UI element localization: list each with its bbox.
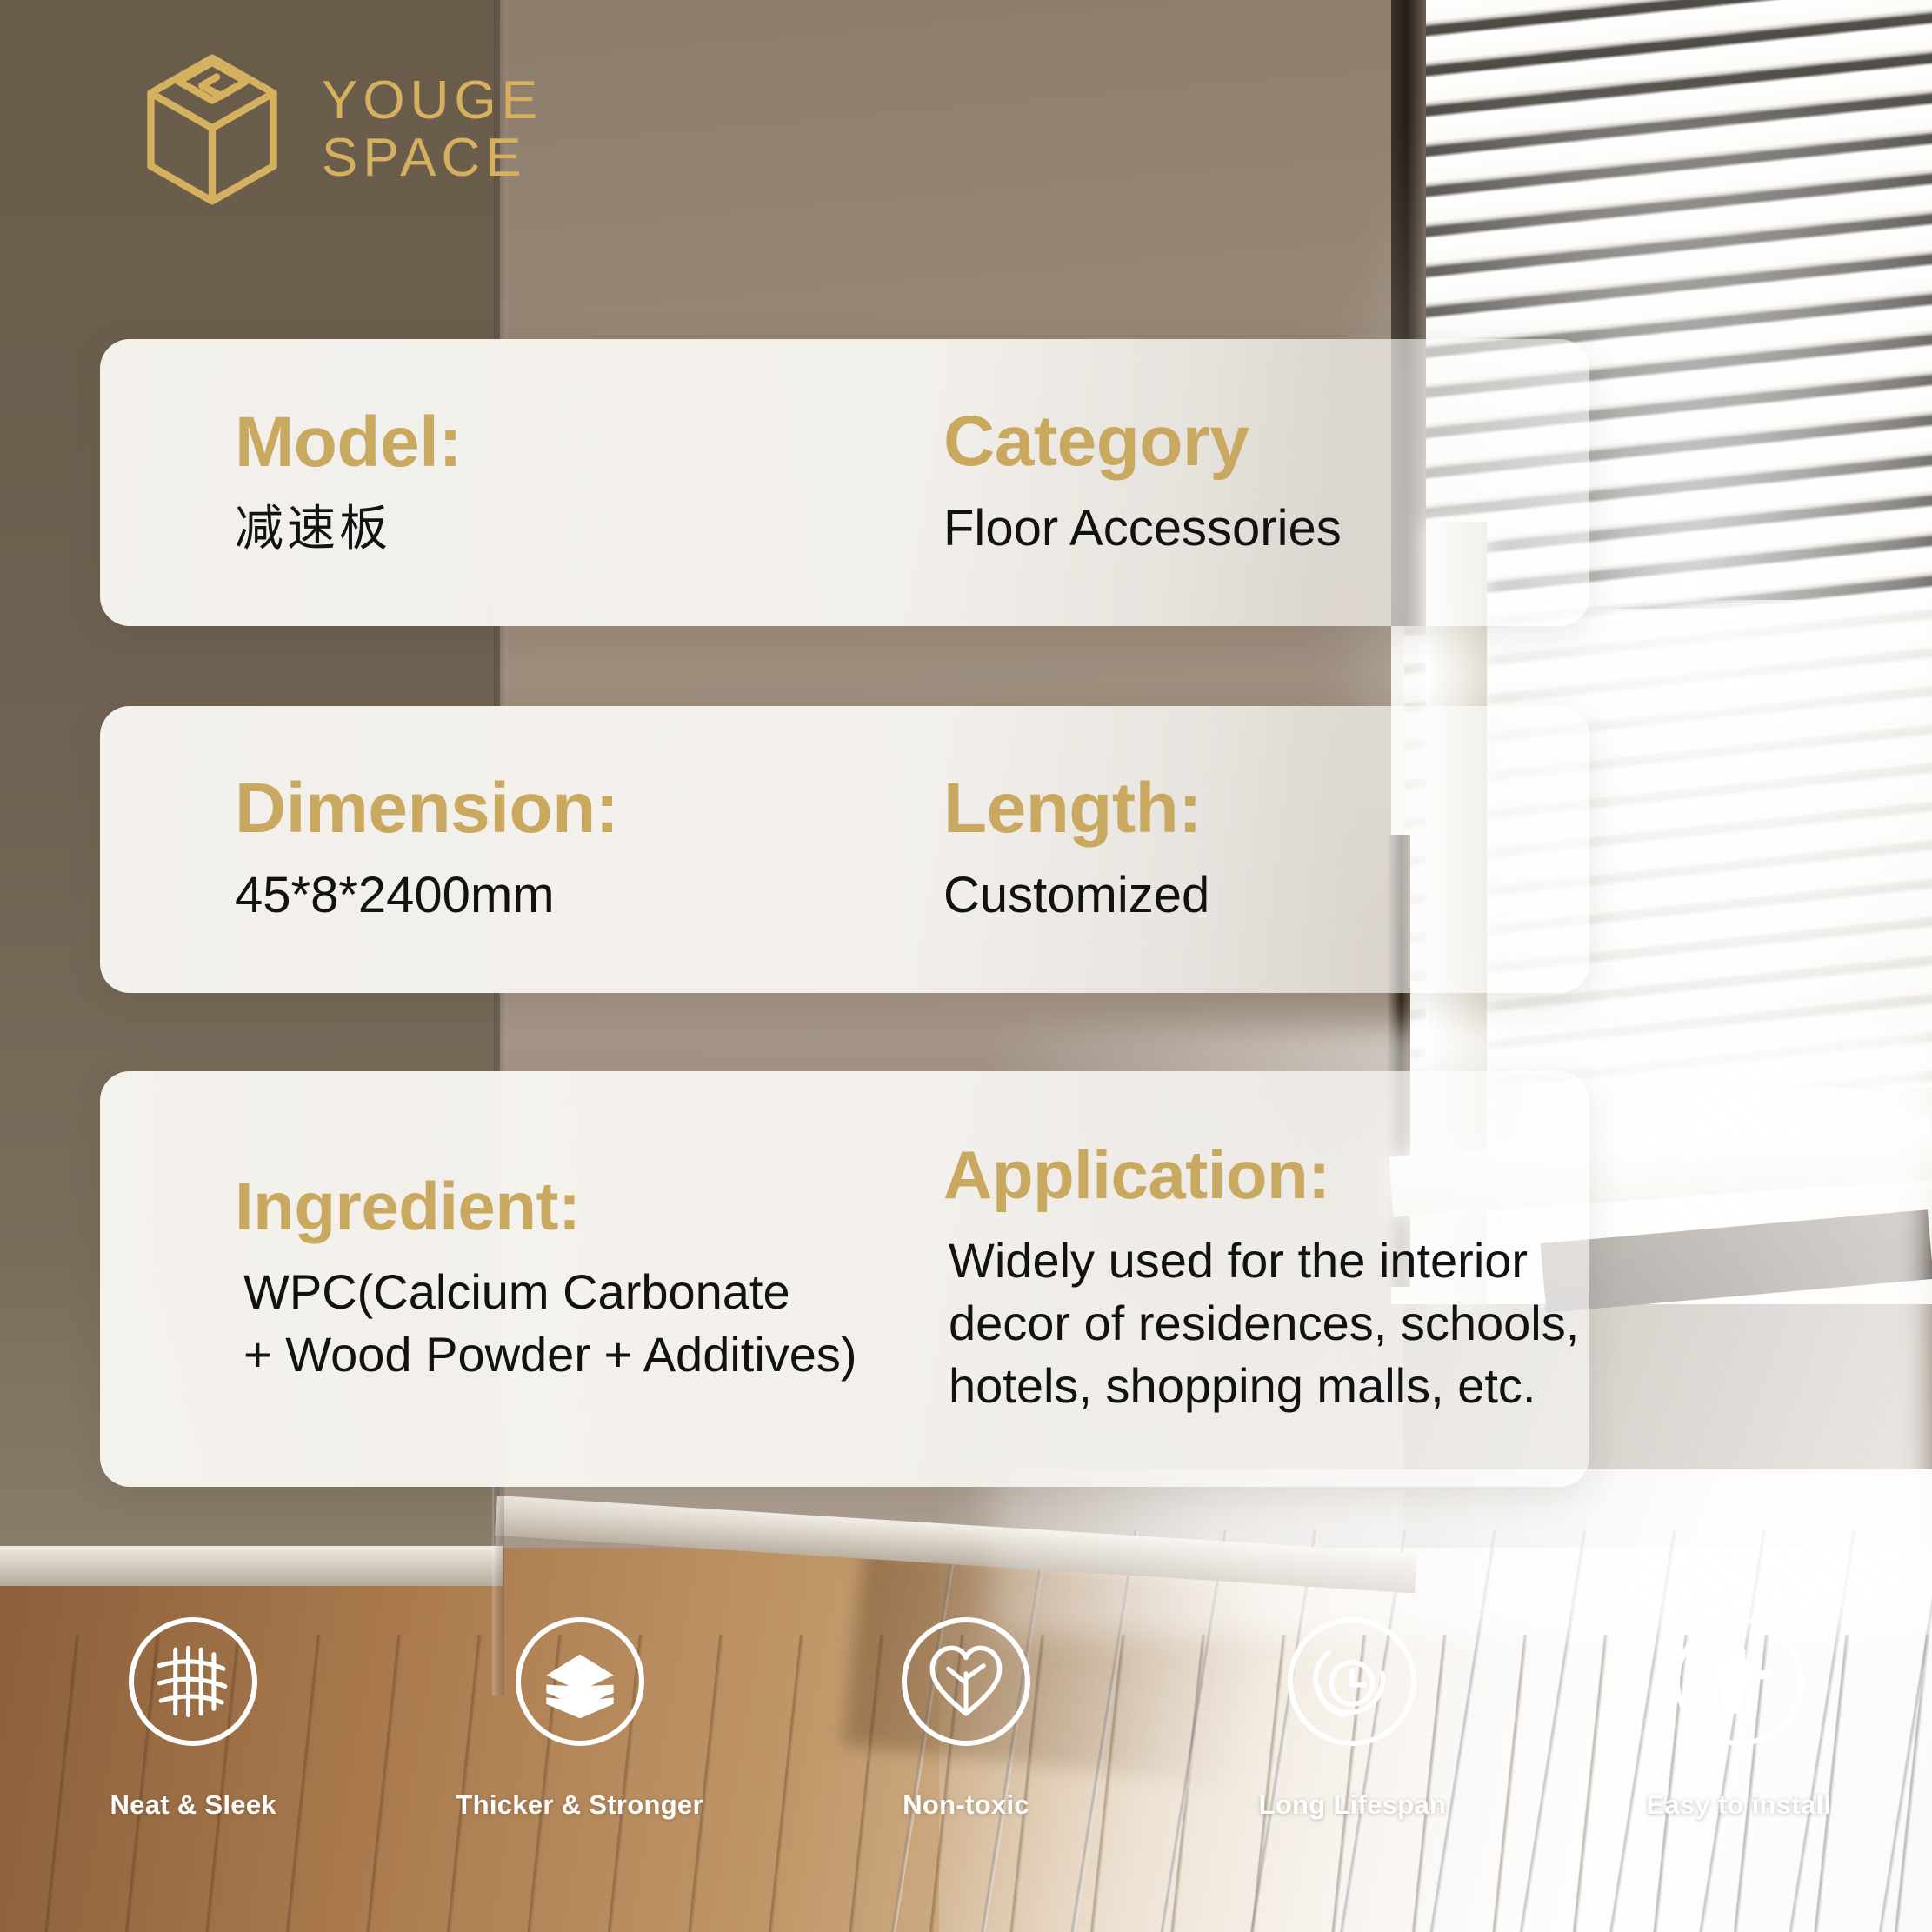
spec-field-dimension: Dimension: 45*8*2400mm bbox=[100, 706, 909, 993]
category-heading: Category bbox=[943, 406, 1589, 477]
feature-label: Non-toxic bbox=[903, 1789, 1029, 1821]
application-value-line2: decor of residences, schools, bbox=[949, 1292, 1589, 1355]
feature-icon-circle bbox=[1288, 1617, 1416, 1746]
power-drill-icon bbox=[1699, 1642, 1779, 1722]
feature-icon-circle bbox=[129, 1617, 257, 1746]
application-value: Widely used for the interior decor of re… bbox=[943, 1229, 1589, 1416]
application-value-line3: hotels, shopping malls, etc. bbox=[949, 1355, 1589, 1417]
cube-box-icon bbox=[139, 52, 285, 207]
dimension-value: 45*8*2400mm bbox=[235, 865, 909, 927]
feature-label: Thicker & Stronger bbox=[456, 1789, 703, 1821]
feature-thicker-stronger: Thicker & Stronger bbox=[386, 1617, 772, 1895]
feature-non-toxic: Non-toxic bbox=[773, 1617, 1159, 1895]
feature-neat-sleek: Neat & Sleek bbox=[0, 1617, 386, 1895]
brand-wordmark: YOUGE SPACE bbox=[322, 72, 543, 186]
heart-leaf-icon bbox=[926, 1642, 1006, 1722]
brand-name-line1: YOUGE bbox=[322, 72, 543, 130]
application-value-line1: Widely used for the interior bbox=[949, 1229, 1589, 1292]
brand-name-line2: SPACE bbox=[322, 130, 543, 187]
feature-long-lifespan: Long Lifespan bbox=[1159, 1617, 1545, 1895]
feature-icon-circle bbox=[902, 1617, 1030, 1746]
woven-mesh-icon bbox=[153, 1642, 233, 1722]
feature-label: Neat & Sleek bbox=[110, 1789, 276, 1821]
spec-field-model: Model: 减速板 bbox=[100, 339, 909, 626]
spec-card-model-category: Model: 减速板 Category Floor Accessories bbox=[100, 339, 1589, 626]
feature-icon-circle bbox=[516, 1617, 644, 1746]
ingredient-value-line1: WPC(Calcium Carbonate bbox=[243, 1261, 909, 1323]
spec-field-length: Length: Customized bbox=[909, 706, 1589, 993]
feature-label: Easy to install bbox=[1646, 1789, 1831, 1821]
baseboard-left bbox=[0, 1546, 503, 1586]
clock-icon bbox=[1312, 1642, 1392, 1722]
length-heading: Length: bbox=[943, 773, 1589, 844]
category-value: Floor Accessories bbox=[943, 498, 1589, 560]
spec-field-category: Category Floor Accessories bbox=[909, 339, 1589, 626]
ingredient-value: WPC(Calcium Carbonate + Wood Powder + Ad… bbox=[235, 1261, 909, 1385]
layers-stack-icon bbox=[540, 1642, 620, 1722]
brand-logo[interactable]: YOUGE SPACE bbox=[139, 52, 543, 207]
dimension-heading: Dimension: bbox=[235, 773, 909, 844]
ingredient-heading: Ingredient: bbox=[235, 1172, 909, 1240]
ingredient-value-line2: + Wood Powder + Additives) bbox=[243, 1323, 909, 1386]
feature-easy-to-install: Easy to install bbox=[1546, 1617, 1932, 1895]
length-value: Customized bbox=[943, 865, 1589, 927]
spec-card-dimension-length: Dimension: 45*8*2400mm Length: Customize… bbox=[100, 706, 1589, 993]
spec-field-ingredient: Ingredient: WPC(Calcium Carbonate + Wood… bbox=[100, 1071, 909, 1487]
product-spec-infographic: YOUGE SPACE Model: 减速板 Category Floor Ac… bbox=[0, 0, 1932, 1932]
application-heading: Application: bbox=[943, 1141, 1589, 1209]
feature-label: Long Lifespan bbox=[1259, 1789, 1447, 1821]
feature-highlights-row: Neat & Sleek Thicker & Stronger bbox=[0, 1617, 1932, 1895]
model-heading: Model: bbox=[235, 407, 909, 478]
model-value: 减速板 bbox=[235, 499, 909, 558]
spec-card-ingredient-application: Ingredient: WPC(Calcium Carbonate + Wood… bbox=[100, 1071, 1589, 1487]
spec-field-application: Application: Widely used for the interio… bbox=[909, 1071, 1589, 1487]
feature-icon-circle bbox=[1675, 1617, 1803, 1746]
